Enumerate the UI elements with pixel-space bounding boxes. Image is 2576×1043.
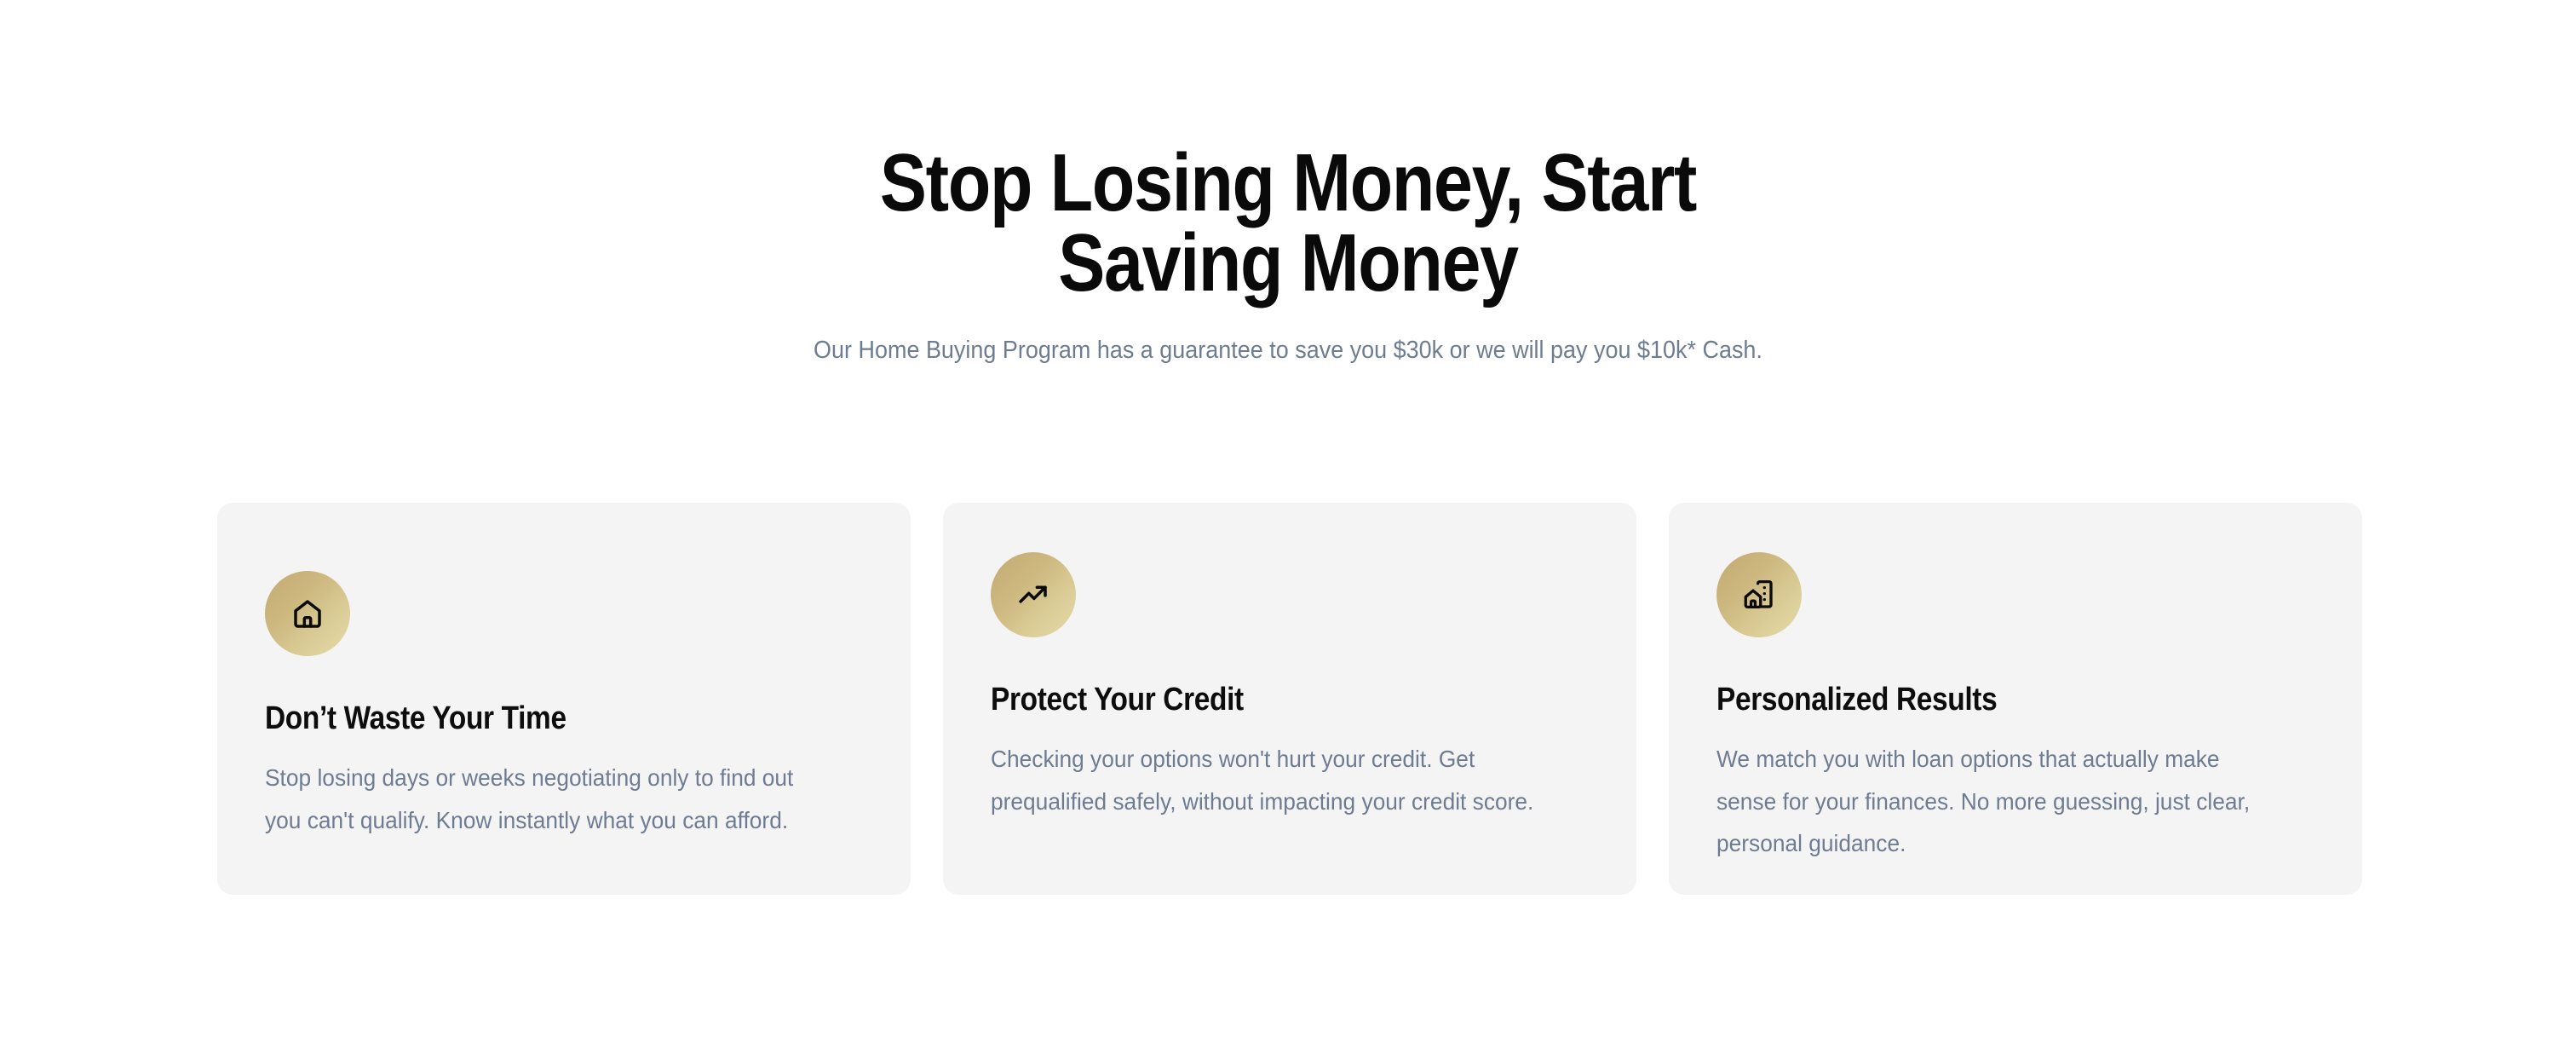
feature-card-protect-your-credit: Protect Your Credit Checking your option…: [943, 503, 1636, 895]
feature-card-body: Stop losing days or weeks negotiating on…: [265, 738, 827, 842]
feature-card-dont-waste-your-time: Don’t Waste Your Time Stop losing days o…: [217, 503, 911, 895]
house-icon: [265, 571, 350, 656]
feature-card-body: We match you with loan options that actu…: [1716, 719, 2279, 865]
hero-block: Stop Losing Money, Start Saving Money Ou…: [0, 143, 2576, 367]
feature-card-row: Don’t Waste Your Time Stop losing days o…: [217, 503, 2362, 895]
feature-card-title: Protect Your Credit: [991, 637, 1517, 719]
feature-card-title: Don’t Waste Your Time: [265, 656, 791, 738]
feature-card-body: Checking your options won't hurt your cr…: [991, 719, 1553, 823]
landing-page-section: Stop Losing Money, Start Saving Money Ou…: [0, 0, 2576, 1043]
page-title-line-1: Stop Losing Money, Start: [181, 143, 2396, 223]
page-title-line-2: Saving Money: [181, 223, 2396, 303]
page-title: Stop Losing Money, Start Saving Money: [181, 143, 2396, 303]
buildings-icon: [1716, 552, 1802, 637]
trending-up-icon: [991, 552, 1076, 637]
feature-card-personalized-results: Personalized Results We match you with l…: [1669, 503, 2362, 895]
page-subtitle: Our Home Buying Program has a guarantee …: [90, 303, 2486, 367]
feature-card-title: Personalized Results: [1716, 637, 2243, 719]
